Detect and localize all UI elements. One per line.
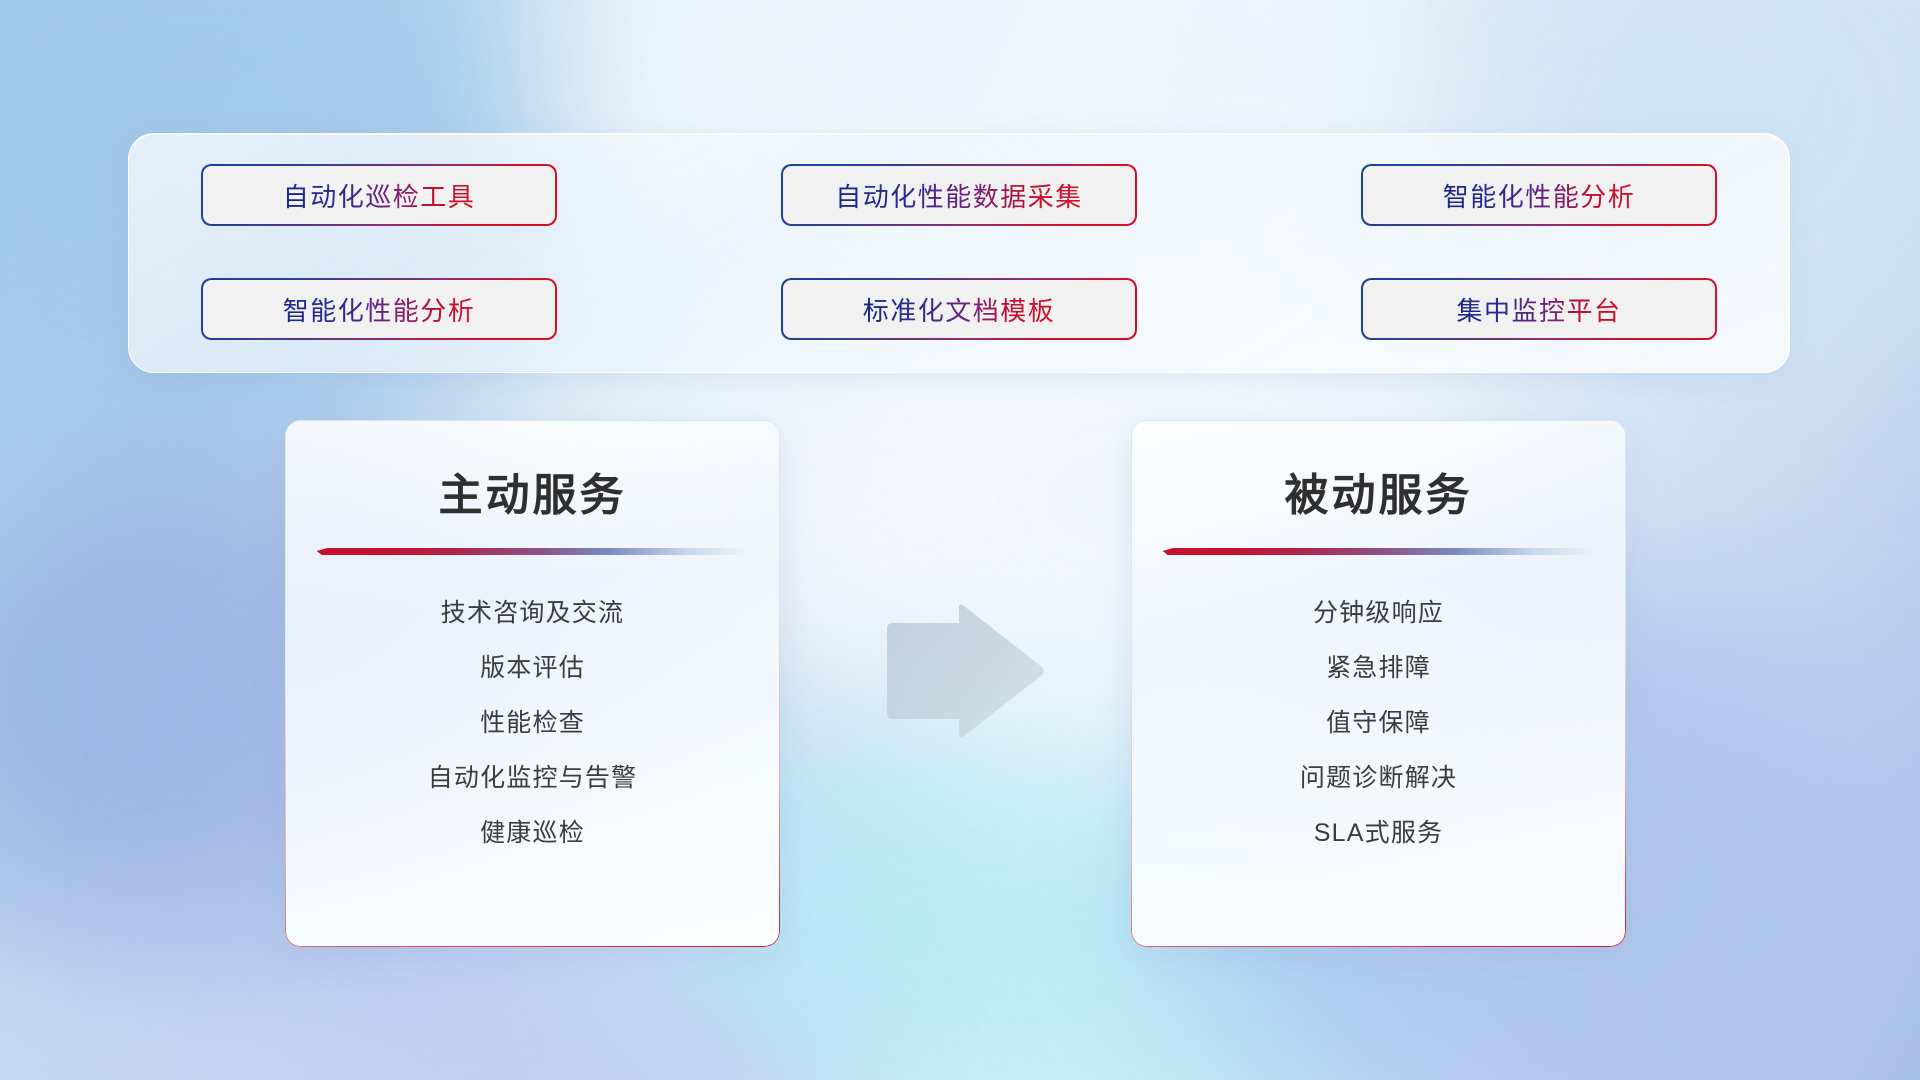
capability-pill-2[interactable]: 自动化性能数据采集 <box>781 164 1137 226</box>
service-list-item: 性能检查 <box>285 696 780 751</box>
capability-pill-label: 智能化性能分析 <box>1443 177 1636 214</box>
service-list-item: 值守保障 <box>1131 696 1626 751</box>
capability-pill-6[interactable]: 集中监控平台 <box>1361 278 1717 340</box>
service-list-item: SLA式服务 <box>1131 806 1626 861</box>
capability-pill-grid: 自动化巡检工具 自动化性能数据采集 智能化性能分析 智能化性能分析 标准化文档模… <box>129 134 1789 372</box>
service-card-title: 主动服务 <box>285 459 780 523</box>
capability-pill-label: 自动化性能数据采集 <box>835 177 1083 214</box>
service-item-list: 分钟级响应 紧急排障 值守保障 问题诊断解决 SLA式服务 <box>1131 586 1626 861</box>
service-list-item: 版本评估 <box>285 641 780 696</box>
capability-pill-label: 自动化巡检工具 <box>283 177 476 214</box>
service-card-passive[interactable]: 被动服务 分钟级响应 紧急排障 值守保障 问题诊断解决 SLA式服务 <box>1131 420 1626 947</box>
capability-pill-5[interactable]: 标准化文档模板 <box>781 278 1137 340</box>
capability-pill-3[interactable]: 智能化性能分析 <box>1361 164 1717 226</box>
service-card-divider <box>317 548 749 555</box>
service-item-list: 技术咨询及交流 版本评估 性能检查 自动化监控与告警 健康巡检 <box>285 586 780 861</box>
service-list-item: 健康巡检 <box>285 806 780 861</box>
capability-pill-label: 智能化性能分析 <box>283 291 476 328</box>
service-card-active[interactable]: 主动服务 技术咨询及交流 版本评估 性能检查 自动化监控与告警 健康巡检 <box>285 420 780 947</box>
service-list-item: 分钟级响应 <box>1131 586 1626 641</box>
arrow-right-icon <box>881 602 1044 744</box>
service-list-item: 技术咨询及交流 <box>285 586 780 641</box>
service-card-title: 被动服务 <box>1131 459 1626 523</box>
capability-pill-label: 标准化文档模板 <box>863 291 1056 328</box>
service-card-divider <box>1163 548 1595 555</box>
service-list-item: 自动化监控与告警 <box>285 751 780 806</box>
service-list-item: 问题诊断解决 <box>1131 751 1626 806</box>
capability-tags-panel: 自动化巡检工具 自动化性能数据采集 智能化性能分析 智能化性能分析 标准化文档模… <box>128 133 1790 373</box>
capability-pill-label: 集中监控平台 <box>1456 291 1621 328</box>
capability-pill-1[interactable]: 自动化巡检工具 <box>201 164 557 226</box>
capability-pill-4[interactable]: 智能化性能分析 <box>201 278 557 340</box>
service-list-item: 紧急排障 <box>1131 641 1626 696</box>
